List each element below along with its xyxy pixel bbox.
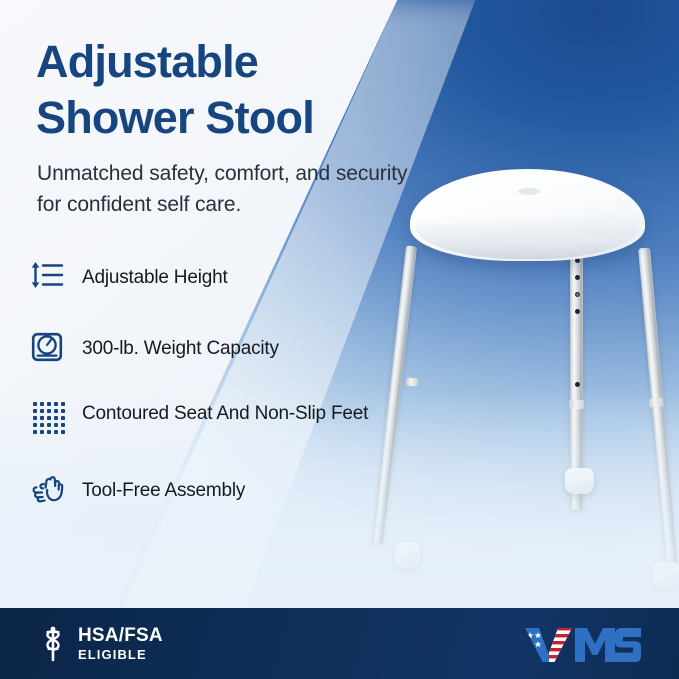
page-subtitle-line1: Unmatched safety, comfort, and bbox=[37, 162, 330, 185]
feature-label: Contoured Seat And Non-Slip Feet bbox=[82, 400, 368, 427]
feature-list: Adjustable Height 300-lb. Weight Capacit… bbox=[30, 258, 380, 542]
feature-label: Adjustable Height bbox=[82, 258, 228, 291]
page-title-line2: Shower Stool bbox=[36, 90, 506, 146]
hands-icon bbox=[30, 471, 82, 505]
feature-item-adjustable-height: Adjustable Height bbox=[30, 258, 380, 306]
weight-scale-icon bbox=[30, 329, 82, 363]
vms-logo bbox=[523, 626, 643, 664]
page-title: Adjustable Shower Stool bbox=[36, 34, 506, 146]
footer-bar: HSA/FSA ELIGIBLE bbox=[0, 608, 679, 679]
rod-of-asclepius-icon bbox=[38, 625, 68, 663]
hsa-fsa-text: HSA/FSA ELIGIBLE bbox=[78, 626, 163, 663]
dot-grid-icon bbox=[30, 400, 82, 434]
page-title-line1: Adjustable bbox=[36, 36, 258, 87]
feature-item-contoured-seat: Contoured Seat And Non-Slip Feet bbox=[30, 400, 380, 448]
feature-item-tool-free-assembly: Tool-Free Assembly bbox=[30, 471, 380, 519]
feature-label: 300-lb. Weight Capacity bbox=[82, 329, 279, 362]
height-arrows-icon bbox=[30, 258, 82, 290]
feature-label: Tool-Free Assembly bbox=[82, 471, 245, 504]
hsa-fsa-badge: HSA/FSA ELIGIBLE bbox=[38, 625, 163, 663]
hsa-fsa-line1: HSA/FSA bbox=[78, 626, 163, 646]
content-column: Adjustable Shower Stool Unmatched safety… bbox=[0, 0, 679, 679]
feature-item-weight-capacity: 300-lb. Weight Capacity bbox=[30, 329, 380, 377]
vms-flag-logo bbox=[523, 626, 643, 664]
hsa-fsa-line2: ELIGIBLE bbox=[78, 647, 163, 663]
product-infographic: Adjustable Shower Stool Unmatched safety… bbox=[0, 0, 679, 679]
page-subtitle: Unmatched safety, comfort, and security … bbox=[37, 158, 427, 220]
